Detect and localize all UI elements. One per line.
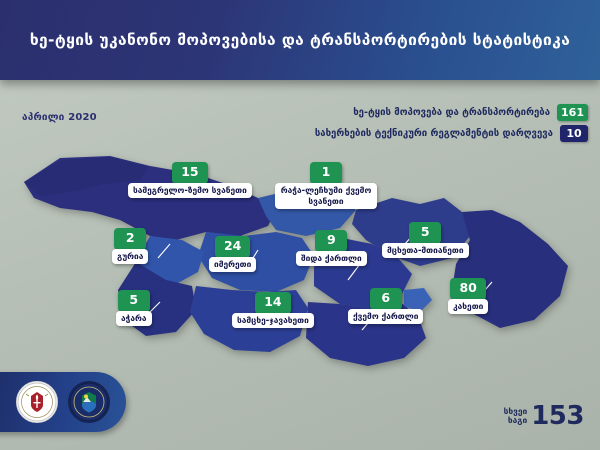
ministry-emblem-icon xyxy=(68,381,110,423)
legend-row: ხე-ტყის მოპოვება და ტრანსპორტირება 161 xyxy=(353,104,588,121)
map-marker-racha[interactable]: 1 რაჭა-ლეჩხუმი ქვემო სვანეთი xyxy=(275,162,377,209)
region-count-badge: 9 xyxy=(315,230,347,252)
date-label: აპრილი 2020 xyxy=(22,112,97,123)
header-bar: ხე-ტყის უკანონო მოპოვებისა და ტრანსპორტი… xyxy=(0,0,600,80)
region-name-label: მცხეთა-მთიანეთი xyxy=(382,243,469,259)
total-value: 153 xyxy=(531,405,584,428)
map-marker-samtskhe[interactable]: 14 სამცხე-ჯავახეთი xyxy=(232,292,314,328)
map-marker-imereti[interactable]: 24 იმერეთი xyxy=(209,236,256,272)
region-name-label: შიდა ქართლი xyxy=(296,251,367,267)
region-name-label: კახეთი xyxy=(448,299,488,315)
legend: ხე-ტყის მოპოვება და ტრანსპორტირება 161 ს… xyxy=(315,104,588,142)
region-name-label: იმერეთი xyxy=(209,257,256,273)
map-marker-shida-kartli[interactable]: 9 შიდა ქართლი xyxy=(296,230,367,266)
region-name-label: გურია xyxy=(112,249,148,265)
total-label-line2: ხაგი xyxy=(504,416,528,425)
legend-label: სახერხების ტექნიკური რეგლამენტის დარღვევ… xyxy=(315,128,553,139)
region-name-label: სამეგრელო-ზემო სვანეთი xyxy=(128,183,252,199)
map-marker-kvemo-kartli[interactable]: 6 ქვემო ქართლი xyxy=(348,288,423,324)
region-name-label: სამცხე-ჯავახეთი xyxy=(232,313,314,329)
region-count-badge: 2 xyxy=(114,228,146,250)
total-label: სხვეი ხაგი xyxy=(504,407,528,425)
government-emblem-icon xyxy=(16,381,58,423)
region-count-badge: 24 xyxy=(215,236,250,258)
map-marker-kakheti[interactable]: 80 კახეთი xyxy=(448,278,488,314)
georgia-map: 15 სამეგრელო-ზემო სვანეთი 1 რაჭა-ლეჩხუმი… xyxy=(0,140,600,390)
region-count-badge: 5 xyxy=(409,222,441,244)
region-name-label: რაჭა-ლეჩხუმი ქვემო სვანეთი xyxy=(275,183,377,209)
region-count-badge: 80 xyxy=(450,278,485,300)
status-badge: 161 xyxy=(557,104,588,121)
region-name-label: ქვემო ქართლი xyxy=(348,309,423,325)
map-marker-samegrelo[interactable]: 15 სამეგრელო-ზემო სვანეთი xyxy=(128,162,252,198)
total-summary: სხვეი ხაგი 153 xyxy=(504,405,584,428)
map-marker-guria[interactable]: 2 გურია xyxy=(112,228,148,264)
region-count-badge: 5 xyxy=(118,290,150,312)
legend-label: ხე-ტყის მოპოვება და ტრანსპორტირება xyxy=(353,107,550,118)
region-count-badge: 1 xyxy=(310,162,342,184)
region-count-badge: 6 xyxy=(370,288,402,310)
infographic-poster: ხე-ტყის უკანონო მოპოვებისა და ტრანსპორტი… xyxy=(0,0,600,450)
region-count-badge: 15 xyxy=(172,162,207,184)
page-title: ხე-ტყის უკანონო მოპოვებისა და ტრანსპორტი… xyxy=(30,31,570,49)
logo-bar xyxy=(0,372,126,432)
map-marker-adjara[interactable]: 5 აჭარა xyxy=(116,290,152,326)
map-marker-mtskheta[interactable]: 5 მცხეთა-მთიანეთი xyxy=(382,222,469,258)
region-count-badge: 14 xyxy=(255,292,290,314)
region-name-label: აჭარა xyxy=(116,311,152,327)
